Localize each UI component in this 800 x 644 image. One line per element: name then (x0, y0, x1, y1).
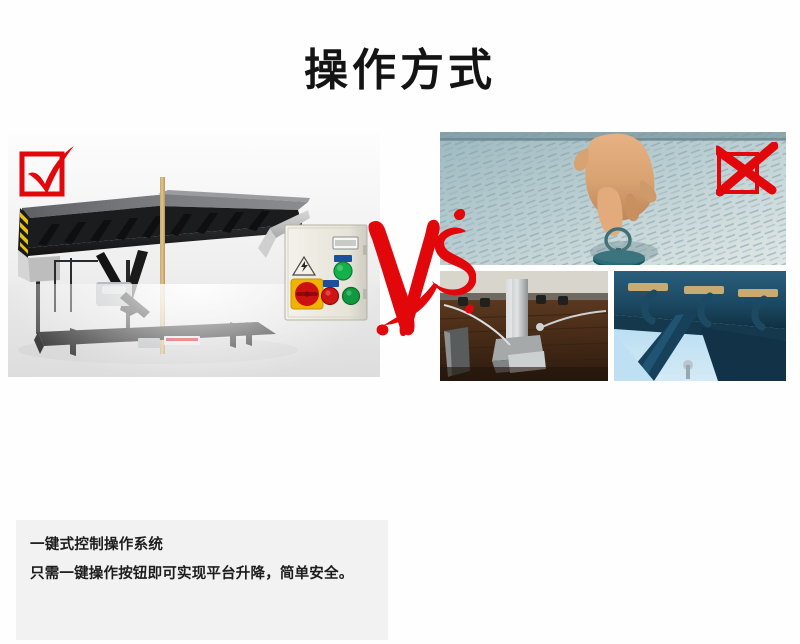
blue-support-bars-photo (614, 271, 786, 381)
left-comparison-column: 一键式控制操作系统 只需一键操作按钮即可实现平台升降，简单安全。 (8, 132, 380, 508)
left-caption-panel: 一键式控制操作系统 只需一键操作按钮即可实现平台升降，简单安全。 (16, 520, 388, 640)
support-bar-chain-photo (440, 271, 608, 381)
left-caption-heading: 一键式控制操作系统 (30, 534, 374, 556)
support-bar-chain-illustration (440, 271, 608, 381)
dock-leveler-photo (8, 132, 380, 377)
one-button-control-box (283, 223, 369, 322)
blue-support-bars-illustration (614, 271, 786, 381)
checkbox-checked-icon (18, 144, 80, 202)
page-title: 操作方式 (0, 44, 800, 98)
emergency-rotary-switch (291, 279, 323, 309)
checkbox-crossed-icon (716, 142, 778, 200)
comparison-slide: 操作方式 (0, 0, 800, 565)
hand-pulling-ring-photo (440, 132, 786, 265)
left-caption-body: 只需一键操作按钮即可实现平台升降，简单安全。 (30, 561, 374, 588)
right-comparison-column: 平台复位状态下靠台面板有两条支撑杆承重，在货车低于月台高度时，需要通过手动拉链将… (440, 132, 786, 512)
